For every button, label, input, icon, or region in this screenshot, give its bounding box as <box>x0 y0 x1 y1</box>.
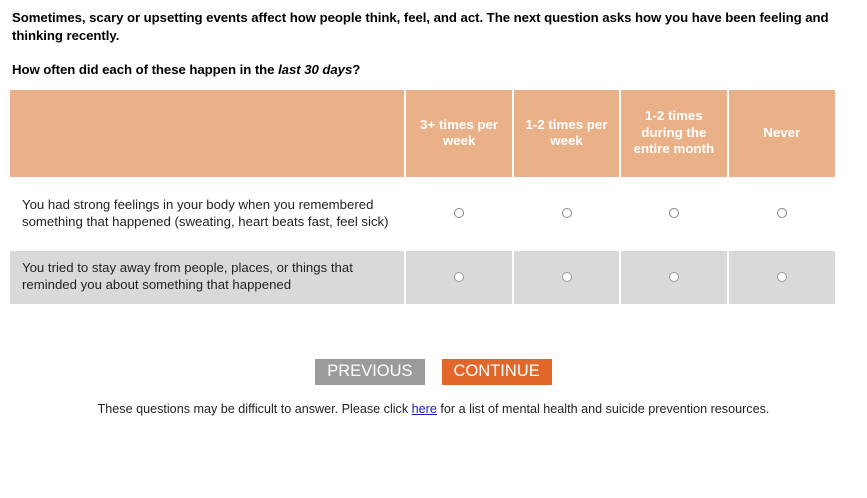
previous-button[interactable]: PREVIOUS <box>315 359 424 385</box>
radio-button-r2-c3[interactable] <box>669 272 679 282</box>
intro-block: Sometimes, scary or upsetting events aff… <box>0 0 867 79</box>
table-row: You tried to stay away from people, plac… <box>10 251 835 304</box>
radio-button-r1-c3[interactable] <box>669 208 679 218</box>
matrix-cell-r2-c1[interactable] <box>405 251 512 304</box>
matrix-table: 3+ times per week 1-2 times per week 1-2… <box>10 90 835 304</box>
radio-button-r1-c2[interactable] <box>562 208 572 218</box>
footer-note: These questions may be difficult to answ… <box>0 401 867 418</box>
matrix-stem-header <box>10 90 405 177</box>
matrix-col-header-1to2-per-week: 1-2 times per week <box>513 90 620 177</box>
intro-question: How often did each of these happen in th… <box>12 61 853 79</box>
matrix-cell-r2-c2[interactable] <box>513 251 620 304</box>
intro-paragraph: Sometimes, scary or upsetting events aff… <box>12 9 853 44</box>
matrix-cell-r1-c2[interactable] <box>513 177 620 251</box>
matrix-cell-r2-c4[interactable] <box>728 251 835 304</box>
matrix-header-row: 3+ times per week 1-2 times per week 1-2… <box>10 90 835 177</box>
matrix-col-header-3plus-per-week: 3+ times per week <box>405 90 512 177</box>
resources-link[interactable]: here <box>412 402 437 416</box>
radio-button-r1-c1[interactable] <box>454 208 464 218</box>
continue-button[interactable]: CONTINUE <box>442 359 552 385</box>
radio-button-r2-c2[interactable] <box>562 272 572 282</box>
matrix-col-header-1to2-entire-month: 1-2 times during the entire month <box>620 90 727 177</box>
matrix-col-header-never: Never <box>728 90 835 177</box>
question-matrix: 3+ times per week 1-2 times per week 1-2… <box>10 90 835 304</box>
question-suffix: ? <box>352 62 360 77</box>
radio-button-r1-c4[interactable] <box>777 208 787 218</box>
matrix-body: You had strong feelings in your body whe… <box>10 177 835 304</box>
table-row: You had strong feelings in your body whe… <box>10 177 835 251</box>
matrix-row-stem-1: You had strong feelings in your body whe… <box>10 177 405 251</box>
question-emphasis: last 30 days <box>278 62 352 77</box>
matrix-head: 3+ times per week 1-2 times per week 1-2… <box>10 90 835 177</box>
radio-button-r2-c1[interactable] <box>454 272 464 282</box>
navigation-button-bar: PREVIOUSCONTINUE <box>0 359 867 385</box>
matrix-cell-r1-c1[interactable] <box>405 177 512 251</box>
matrix-cell-r2-c3[interactable] <box>620 251 727 304</box>
question-prefix: How often did each of these happen in th… <box>12 62 278 77</box>
footer-note-prefix: These questions may be difficult to answ… <box>98 402 412 416</box>
matrix-cell-r1-c4[interactable] <box>728 177 835 251</box>
intro-spacer <box>12 44 853 61</box>
footer-note-suffix: for a list of mental health and suicide … <box>437 402 770 416</box>
matrix-cell-r1-c3[interactable] <box>620 177 727 251</box>
radio-button-r2-c4[interactable] <box>777 272 787 282</box>
matrix-row-stem-2: You tried to stay away from people, plac… <box>10 251 405 304</box>
